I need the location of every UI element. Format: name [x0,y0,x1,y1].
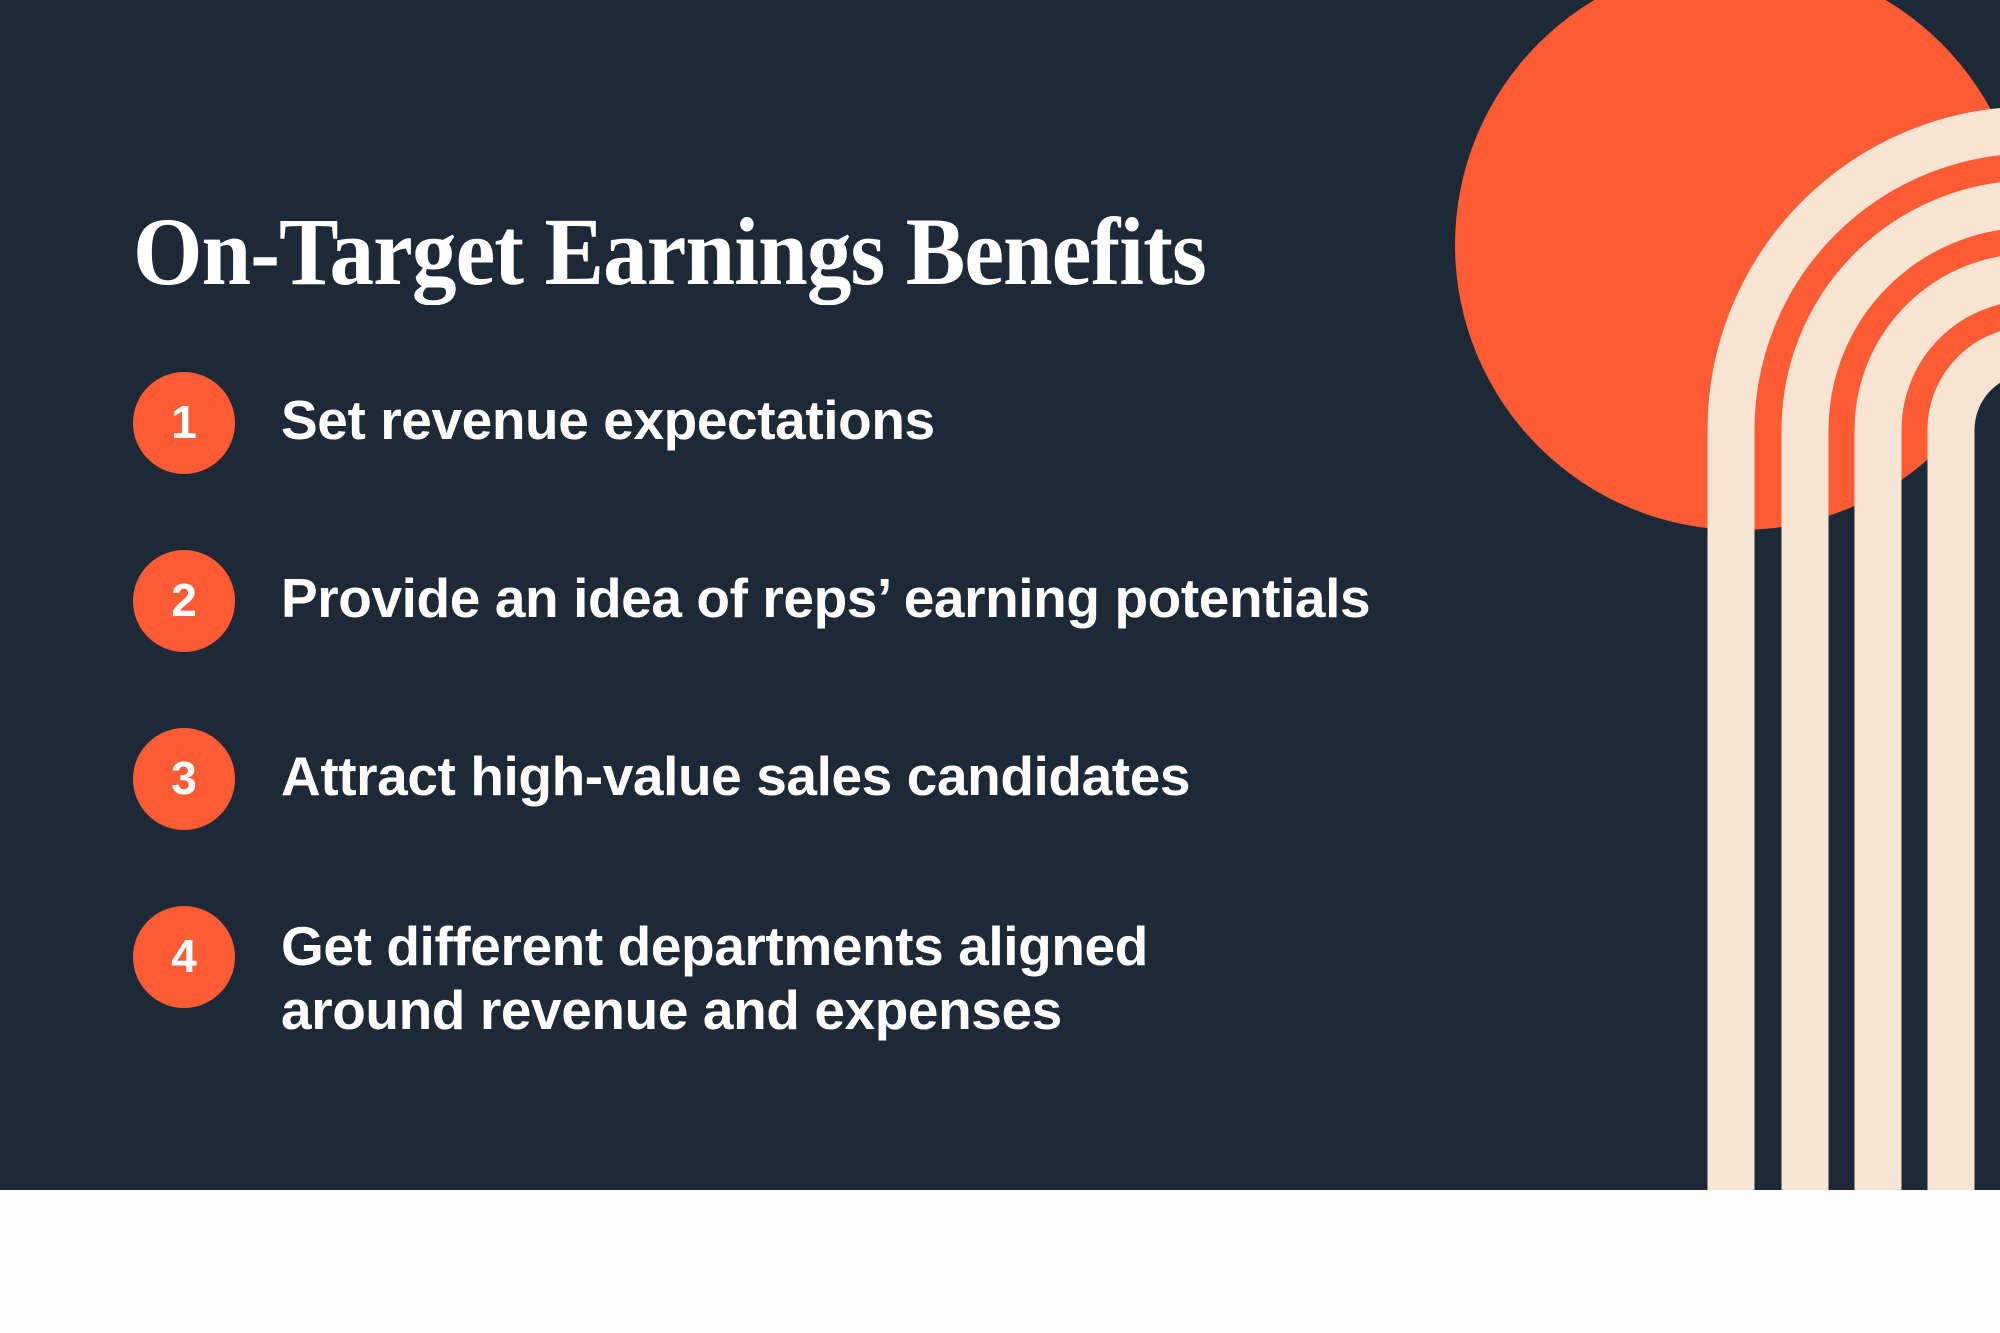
list-item: 4 Get different departments aligned arou… [133,906,1613,1042]
list-item: 2 Provide an idea of reps’ earning poten… [133,550,1613,652]
benefits-list: 1 Set revenue expectations 2 Provide an … [133,372,1613,1042]
arc-1 [1731,130,2000,1190]
footer-bar: HubSp t [0,1190,2000,1333]
list-item-label: Provide an idea of reps’ earning potenti… [281,550,1613,630]
arc-2 [1805,204,2000,1190]
list-item-label: Get different departments aligned around… [281,906,1613,1042]
arc-group [1731,130,2000,1190]
list-item-label: Attract high-value sales candidates [281,728,1613,808]
list-item-label: Set revenue expectations [281,372,1613,452]
list-item-number-badge: 4 [133,906,235,1008]
infographic-canvas: On-Target Earnings Benefits 1 Set revenu… [0,0,2000,1333]
dark-panel: On-Target Earnings Benefits 1 Set revenu… [0,0,2000,1190]
arc-4 [1951,350,2000,1190]
list-item-number-badge: 1 [133,372,235,474]
list-item-number-badge: 3 [133,728,235,830]
page-title: On-Target Earnings Benefits [133,202,1206,303]
arc-3 [1878,277,2000,1190]
list-item: 1 Set revenue expectations [133,372,1613,474]
list-item: 3 Attract high-value sales candidates [133,728,1613,830]
list-item-number-badge: 2 [133,550,235,652]
